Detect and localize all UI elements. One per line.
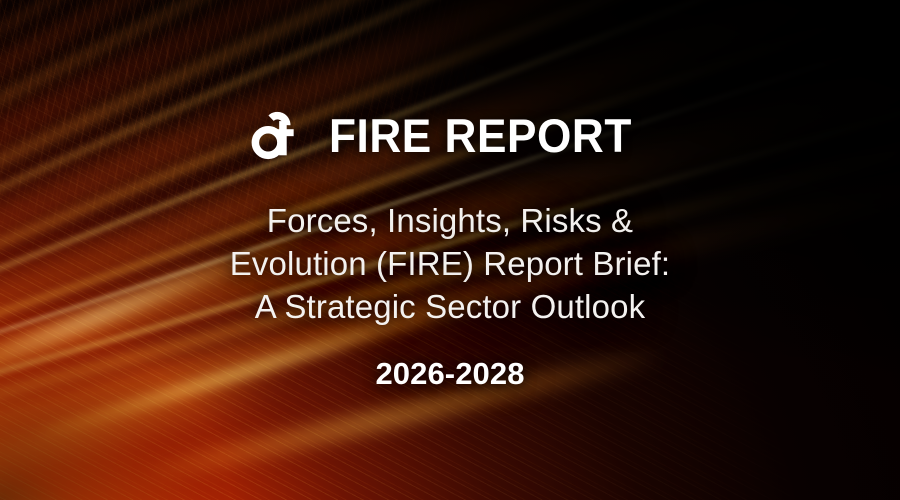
masthead: FIRE REPORT [249, 104, 651, 166]
report-cover: FIRE REPORT Forces, Insights, Risks & Ev… [0, 0, 900, 500]
af-monogram-icon [249, 106, 307, 164]
report-date-range: 2026-2028 [0, 358, 900, 389]
wordmark-title: FIRE REPORT [329, 112, 632, 159]
subtitle-line-3: A Strategic Sector Outlook [0, 286, 900, 329]
subtitle-line-1: Forces, Insights, Risks & [0, 200, 900, 243]
subtitle-line-2: Evolution (FIRE) Report Brief: [0, 243, 900, 286]
report-subtitle: Forces, Insights, Risks & Evolution (FIR… [0, 200, 900, 329]
cover-content: FIRE REPORT Forces, Insights, Risks & Ev… [0, 0, 900, 500]
